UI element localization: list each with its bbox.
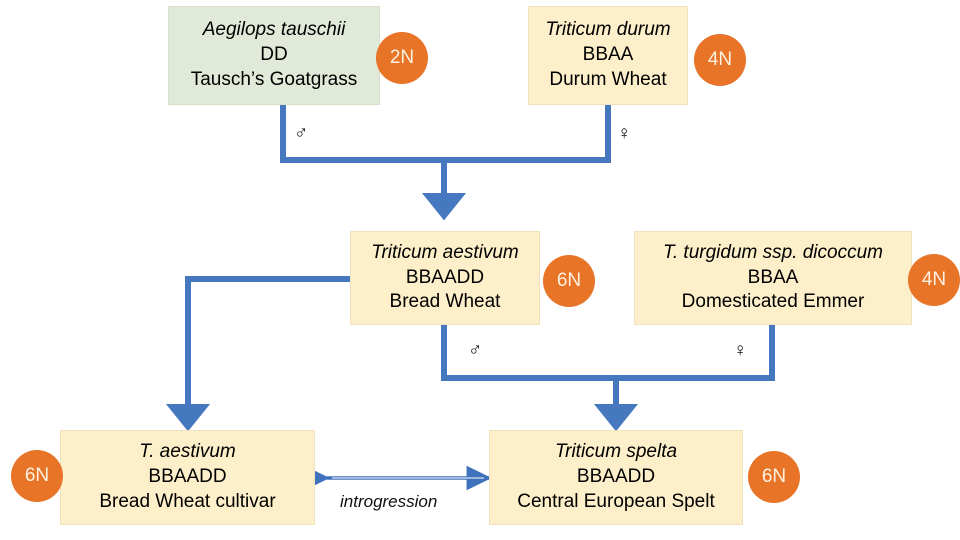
connector-cross2 xyxy=(444,325,772,423)
node-t-aestivum-cultivar[interactable]: T. aestivum BBAADD Bread Wheat cultivar xyxy=(60,430,315,525)
ploidy-badge-6n-aestivum: 6N xyxy=(543,255,595,307)
male-symbol-cross1: ♂ xyxy=(294,124,308,143)
node-triticum-durum[interactable]: Triticum durum BBAA Durum Wheat xyxy=(528,6,688,105)
male-symbol-cross2: ♂ xyxy=(468,341,482,360)
node-scientific-name: Aegilops tauschii xyxy=(203,18,346,43)
node-genome: BBAADD xyxy=(577,465,655,490)
ploidy-badge-label: 4N xyxy=(922,269,946,291)
ploidy-badge-6n-spelta: 6N xyxy=(748,451,800,503)
node-common-name: Bread Wheat xyxy=(390,290,501,315)
node-common-name: Bread Wheat cultivar xyxy=(99,490,275,515)
node-genome: BBAA xyxy=(583,43,634,68)
node-triticum-aestivum[interactable]: Triticum aestivum BBAADD Bread Wheat xyxy=(350,231,540,325)
ploidy-badge-label: 6N xyxy=(25,465,49,487)
ploidy-badge-2n: 2N xyxy=(376,32,428,84)
node-genome: DD xyxy=(260,43,287,68)
node-scientific-name: Triticum aestivum xyxy=(371,241,518,266)
node-common-name: Tausch’s Goatgrass xyxy=(191,68,358,93)
node-genome: BBAADD xyxy=(406,266,484,291)
ploidy-badge-4n-emmer: 4N xyxy=(908,254,960,306)
female-symbol-cross1: ♀ xyxy=(617,124,631,143)
ploidy-badge-label: 6N xyxy=(762,466,786,488)
node-genome: BBAADD xyxy=(148,465,226,490)
ploidy-badge-label: 6N xyxy=(557,270,581,292)
ploidy-badge-label: 4N xyxy=(708,49,732,71)
ploidy-badge-6n-cultivar: 6N xyxy=(11,450,63,502)
node-scientific-name: Triticum durum xyxy=(545,18,670,43)
node-scientific-name: T. turgidum ssp. dicoccum xyxy=(663,241,883,266)
ploidy-badge-4n-durum: 4N xyxy=(694,34,746,86)
node-triticum-spelta[interactable]: Triticum spelta BBAADD Central European … xyxy=(489,430,743,525)
node-scientific-name: T. aestivum xyxy=(139,440,235,465)
node-common-name: Domesticated Emmer xyxy=(682,290,865,315)
node-common-name: Central European Spelt xyxy=(517,490,715,515)
introgression-label: introgression xyxy=(340,492,437,512)
connector-aestivum-to-cultivar xyxy=(188,279,350,423)
node-common-name: Durum Wheat xyxy=(549,68,666,93)
node-genome: BBAA xyxy=(748,266,799,291)
node-t-turgidum-dicoccum[interactable]: T. turgidum ssp. dicoccum BBAA Domestica… xyxy=(634,231,912,325)
connector-cross1 xyxy=(283,104,608,212)
female-symbol-cross2: ♀ xyxy=(733,341,747,360)
ploidy-badge-label: 2N xyxy=(390,47,414,69)
node-scientific-name: Triticum spelta xyxy=(555,440,677,465)
node-aegilops-tauschii[interactable]: Aegilops tauschii DD Tausch’s Goatgrass xyxy=(168,6,380,105)
diagram-canvas: Aegilops tauschii DD Tausch’s Goatgrass … xyxy=(0,0,960,540)
